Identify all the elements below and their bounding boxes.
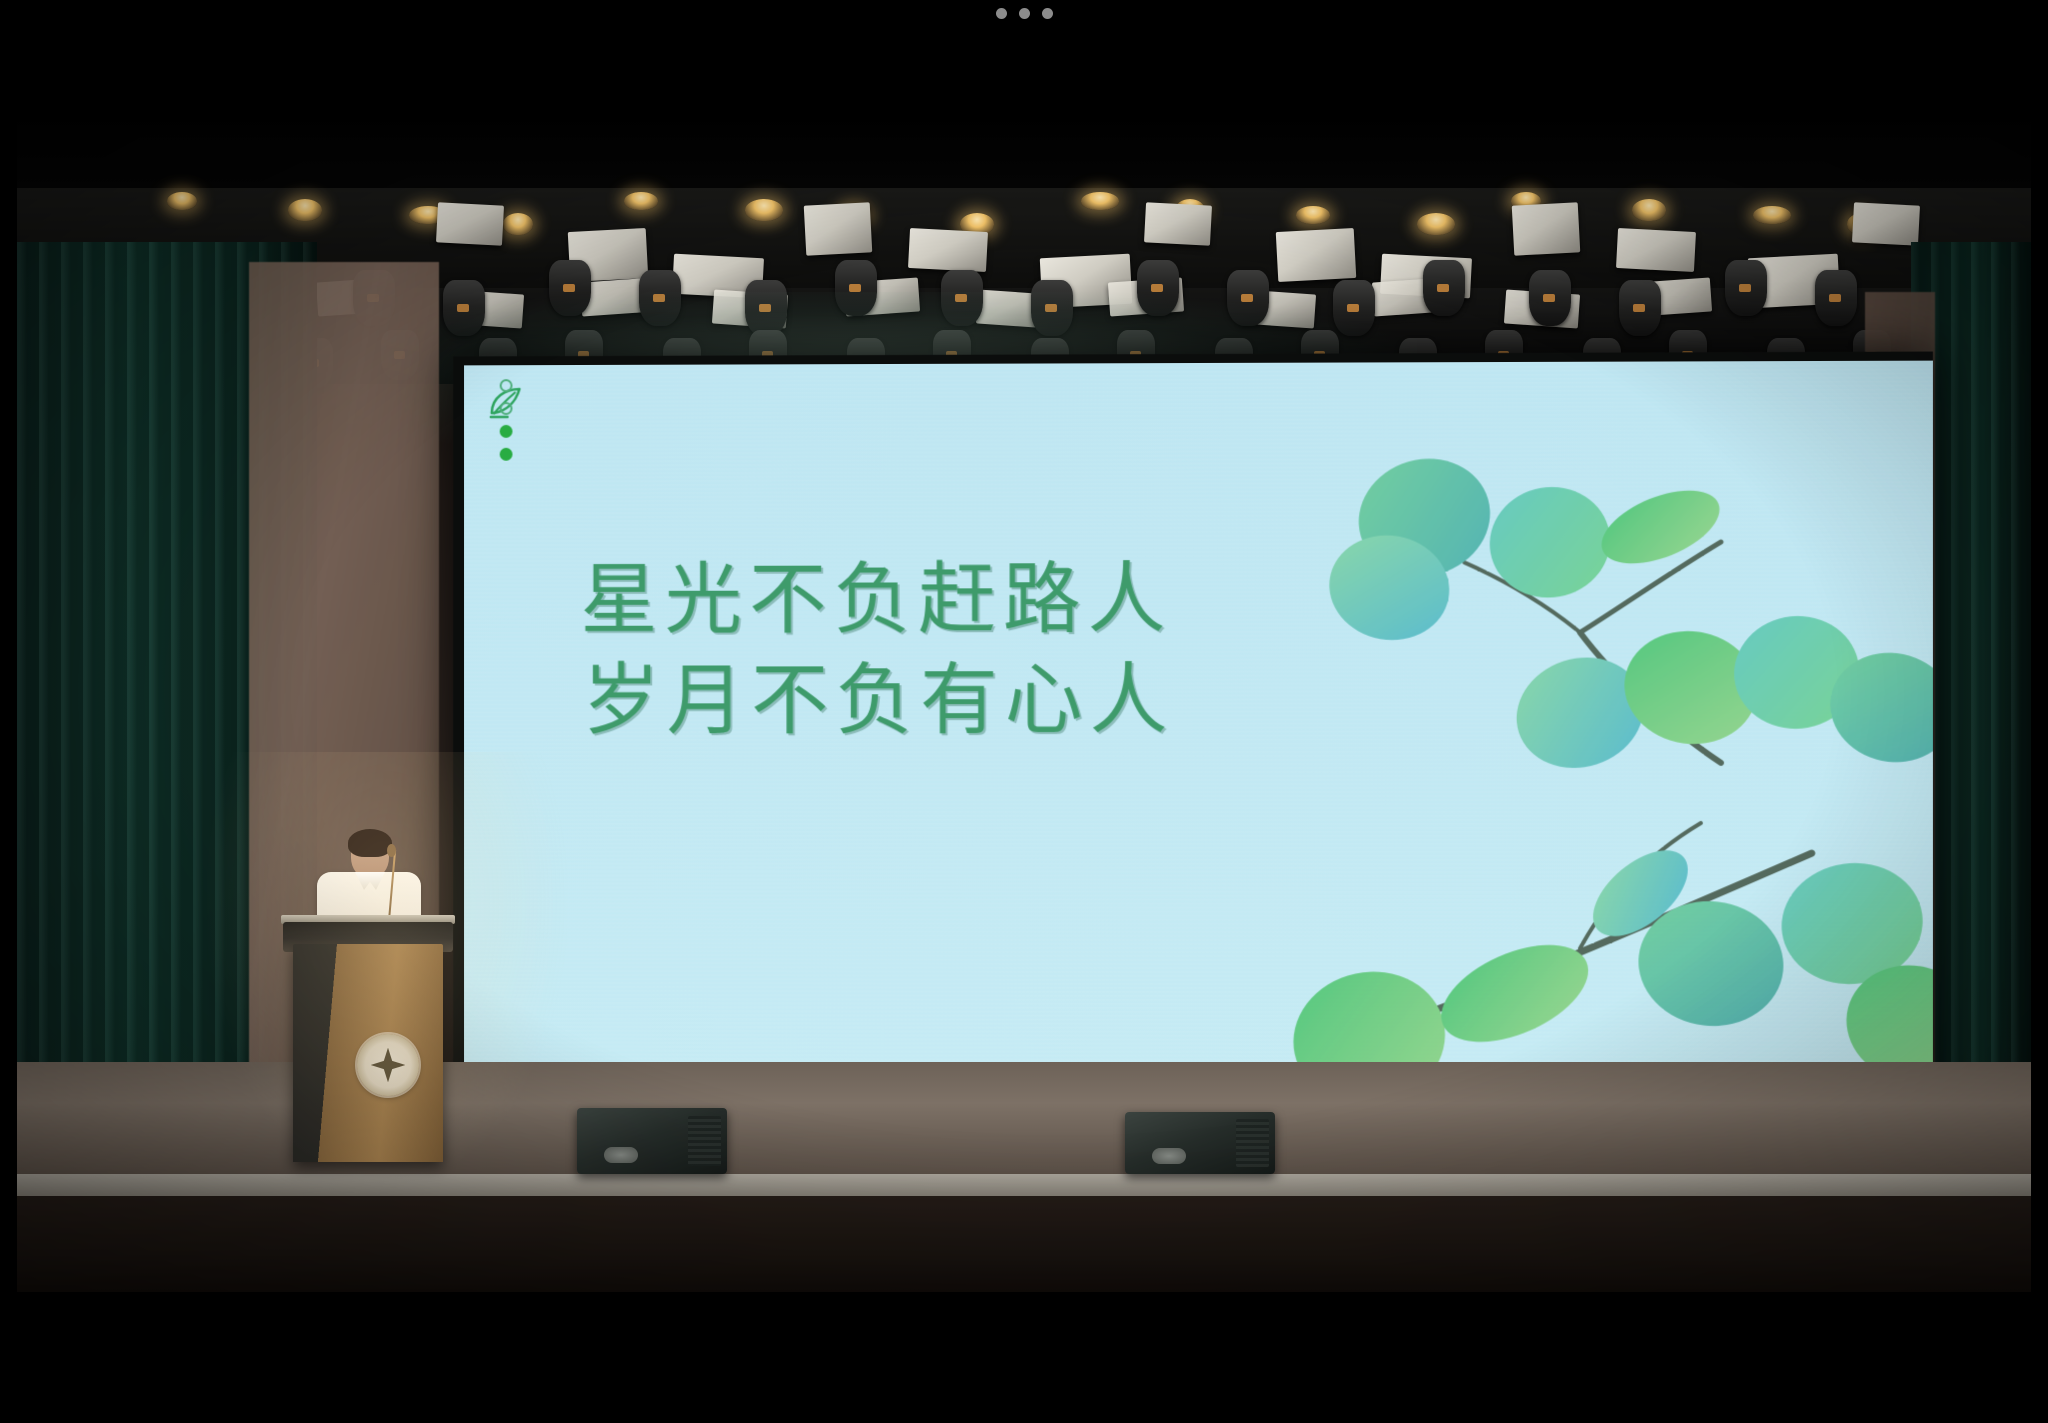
par-lamp	[1417, 213, 1455, 235]
fixture-lens	[457, 304, 469, 313]
par-lamp	[1296, 206, 1330, 224]
fixture-lens	[1829, 294, 1841, 303]
lectern-body	[293, 944, 443, 1162]
three-dot-indicator[interactable]	[0, 8, 2048, 19]
par-lamp	[1081, 192, 1119, 210]
par-lamp	[1753, 206, 1791, 224]
monitor-badge-right	[1152, 1148, 1186, 1164]
moving-head-fixture	[1333, 280, 1375, 336]
reflector-box	[1144, 202, 1212, 245]
fixture-lens	[759, 304, 771, 313]
fixture-lens	[1437, 284, 1449, 293]
par-lamp	[503, 213, 533, 235]
fixture-lens	[1151, 284, 1163, 293]
monitor-badge-left	[604, 1147, 638, 1163]
headline-line-1: 星光不负赶路人	[580, 548, 1489, 651]
moving-head-fixture	[1725, 260, 1767, 316]
moving-head-fixture	[1031, 280, 1073, 336]
headline-line-2: 岁月不负有心人	[582, 650, 1489, 752]
moving-head-fixture	[835, 260, 877, 316]
microphone-capsule	[387, 844, 396, 857]
fixture-lens	[1347, 304, 1359, 313]
reflector-box	[804, 202, 873, 255]
pager-dot-4[interactable]	[500, 448, 513, 461]
pager-dot-3[interactable]	[500, 425, 513, 438]
fixture-lens	[1241, 294, 1253, 303]
moving-head-fixture	[1529, 270, 1571, 326]
school-crest-emblem	[357, 1034, 419, 1096]
moving-head-fixture	[1815, 270, 1857, 326]
screenshot-root: 星光不负赶路人 岁月不负有心人	[0, 0, 2048, 1423]
moving-head-fixture	[443, 280, 485, 336]
monitor-grille-right	[1236, 1119, 1269, 1166]
fixture-lens	[955, 294, 967, 303]
fixture-lens	[1543, 294, 1555, 303]
stage-monitor-left	[577, 1108, 727, 1174]
moving-head-fixture	[1619, 280, 1661, 336]
par-lamp	[624, 192, 658, 210]
slide-pager-dots[interactable]	[500, 379, 513, 461]
slide-headline: 星光不负赶路人 岁月不负有心人	[580, 548, 1489, 752]
reflector-box	[1616, 228, 1696, 272]
photo-frame: 星光不负赶路人 岁月不负有心人	[17, 92, 2031, 1292]
fixture-lens	[653, 294, 665, 303]
moving-head-fixture	[1137, 260, 1179, 316]
moving-head-fixture	[745, 280, 787, 336]
par-lamp	[288, 199, 322, 221]
reflector-box	[436, 202, 504, 245]
stage-front-face	[17, 1196, 2031, 1292]
reflector-box	[908, 228, 988, 272]
moving-head-fixture	[639, 270, 681, 326]
moving-head-fixture	[549, 260, 591, 316]
stage-monitor-right	[1125, 1112, 1275, 1174]
pager-dot-2[interactable]	[500, 402, 513, 415]
fixture-lens	[849, 284, 861, 293]
moving-head-fixture	[941, 270, 983, 326]
par-lamp	[167, 192, 197, 210]
fixture-lens	[1045, 304, 1057, 313]
pager-dot-1[interactable]	[500, 379, 513, 392]
reflector-box	[1852, 202, 1920, 245]
stage-edge-lip	[17, 1174, 2031, 1196]
reflector-box	[1512, 202, 1581, 255]
moving-head-fixture	[1423, 260, 1465, 316]
speaker-hair	[348, 829, 392, 857]
par-lamp	[1632, 199, 1666, 221]
fixture-lens	[563, 284, 575, 293]
status-dot-3	[1042, 8, 1053, 19]
monitor-grille-left	[688, 1116, 721, 1166]
fixture-lens	[1633, 304, 1645, 313]
reflector-box	[1276, 228, 1357, 282]
moving-head-fixture	[1227, 270, 1269, 326]
status-dot-2	[1019, 8, 1030, 19]
watercolor-eucalyptus-branch	[1249, 421, 1933, 1125]
status-dot-1	[996, 8, 1007, 19]
fixture-lens	[1739, 284, 1751, 293]
lectern-group	[293, 832, 443, 1162]
par-lamp	[745, 199, 783, 221]
